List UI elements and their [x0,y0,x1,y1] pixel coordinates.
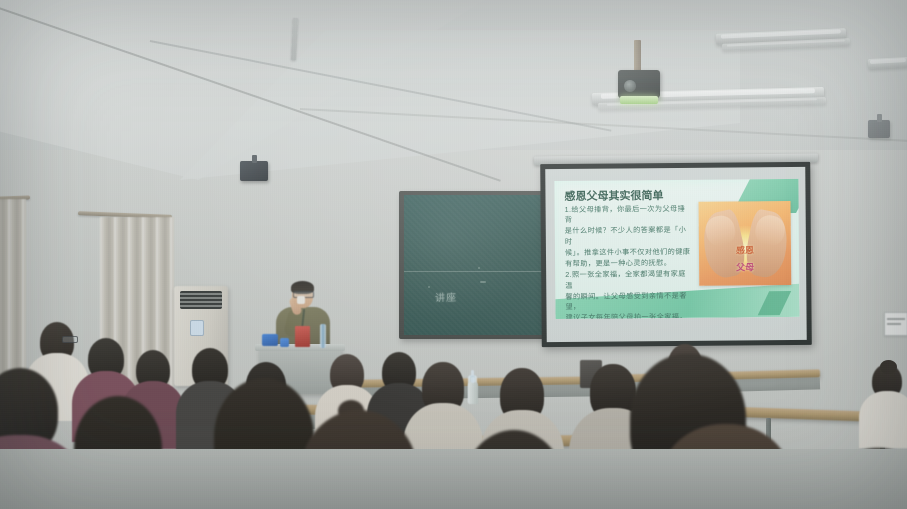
slide-body-line: 1.给父母捶背，你最后一次为父母捶背 [565,204,693,226]
slide-body-line: 是什么时候？不少人的答案都是「小时 [565,225,693,247]
water-bottle [468,382,478,404]
chalk-mark [428,286,430,288]
blackboard-surface [404,195,551,335]
audience-member [422,362,464,414]
presentation-slide: 感恩父母其实很简单 1.给父母捶背，你最后一次为父母捶背 是什么时候？不少人的答… [554,179,799,319]
floor [0,449,907,509]
podium-item-water-bottle [320,324,326,348]
lecture-hall-photo: 讲座 感恩父母其实很简单 1.给父母捶背，你最后一次为父母捶背 是什么时候？不少… [0,0,907,509]
audience-member [500,368,544,422]
ceiling-light [868,57,907,69]
presenter-cup [297,296,305,304]
projector-indicator-glow [620,96,658,104]
audience-hair-bun [880,360,897,374]
wall-speaker [240,161,268,181]
notice-text-line [887,318,905,320]
blackboard-chalk-writing: 讲座 [435,289,457,305]
audience-member [382,352,416,392]
audience-member-foreground [0,368,58,454]
notice-text-line [887,323,901,325]
chalk-mark [478,267,480,269]
audience-shoulders [859,391,907,449]
air-conditioner-badge [190,320,204,336]
wall-notice-placard [884,312,907,336]
curtain [0,199,26,381]
audience-member [330,354,364,394]
slide-body-line: 有帮助，更是一种心灵的抚慰。 [565,258,693,269]
blackboard-divider [404,271,551,272]
slide-image-hands-heart: 感恩 父母 [699,201,792,286]
podium-item-blue-box [262,334,278,346]
audience-member [136,350,170,390]
chalk-mark [480,281,486,283]
slide-body-line: 2.照一张全家福，全家都渴望有家庭温 [565,269,693,291]
slide-body-line: 馨的瞬间。让父母感受到亲情不是奢望， [565,291,693,313]
slide-body-line: 候」。推拿这件小事不仅对他们的健康 [565,247,693,258]
slide-image-text-secondary: 父母 [699,260,791,274]
slide-body-text: 1.给父母捶背，你最后一次为父母捶背 是什么时候？不少人的答案都是「小时 候」。… [565,204,694,319]
wall-speaker [868,120,890,138]
podium-item-red-package [295,326,310,347]
audience-member [88,338,124,380]
slide-title: 感恩父母其实很简单 [564,187,663,204]
projection-screen-surface: 感恩父母其实很简单 1.给父母捶背，你最后一次为父母捶背 是什么时候？不少人的答… [545,167,806,342]
air-conditioner-vent [180,291,222,309]
slide-image-text-primary: 感恩 [699,243,791,257]
podium-item-blue-box [280,338,289,347]
projector-lens [624,80,636,92]
audience-glasses [62,336,78,343]
slide-body-line: 建议子女每年陪父母拍一张全家福，请 [566,312,694,319]
